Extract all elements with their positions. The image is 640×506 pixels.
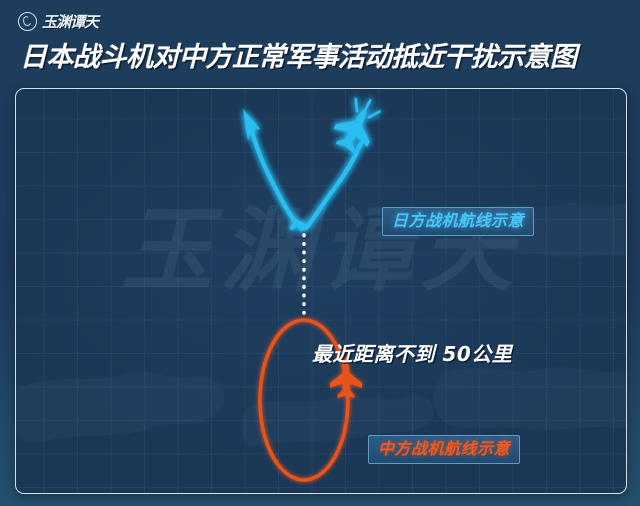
- route-label-china[interactable]: 中方战机航线示意: [368, 435, 520, 464]
- route-label-japan[interactable]: 日方战机航线示意: [382, 207, 534, 236]
- infographic-root: 玉渊谭天 日本战斗机对中方正常军事活动抵近干扰示意图 玉渊谭天: [0, 0, 640, 506]
- map-panel: 玉渊谭天: [15, 88, 627, 494]
- flight-path-layer: [16, 89, 626, 493]
- quote-bubble-icon: [18, 12, 37, 31]
- brand-logo: 玉渊谭天: [18, 8, 98, 34]
- brand-name: 玉渊谭天: [42, 11, 98, 32]
- page-title: 日本战斗机对中方正常军事活动抵近干扰示意图: [20, 41, 624, 75]
- distance-annotation: 最近距离不到 50公里: [312, 341, 512, 367]
